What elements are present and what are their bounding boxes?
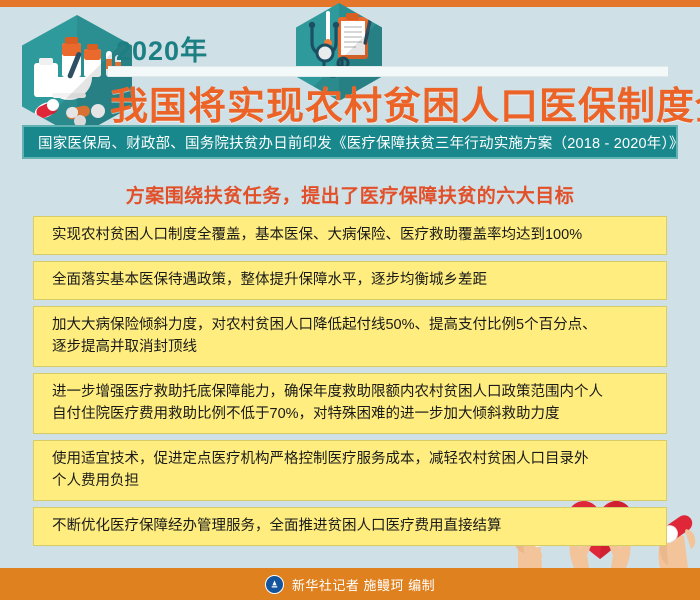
goal-item: 进一步增强医疗救助托底保障能力，确保年度救助限额内农村贫困人口政策范围内个人 自… (33, 373, 667, 434)
goal-line: 实现农村贫困人口制度全覆盖，基本医保、大病保险、医疗救助覆盖率均达到100% (52, 224, 652, 246)
top-accent-rule (0, 0, 700, 7)
goal-item: 实现农村贫困人口制度全覆盖，基本医保、大病保险、医疗救助覆盖率均达到100% (33, 216, 667, 255)
goal-line: 进一步增强医疗救助托底保障能力，确保年度救助限额内农村贫困人口政策范围内个人 (52, 381, 652, 403)
goal-line: 个人费用负担 (52, 470, 652, 492)
footer-bar: 新华社记者 施鳗珂 编制 (0, 568, 700, 600)
goal-item: 加大大病保险倾斜力度，对农村贫困人口降低起付线50%、提高支付比例5个百分点、 … (33, 306, 667, 367)
goal-line: 逐步提高并取消封顶线 (52, 336, 652, 358)
goal-item: 不断优化医疗保障经办管理服务，全面推进贫困人口医疗费用直接结算 (33, 507, 667, 546)
footer-credit: 新华社记者 施鳗珂 编制 (292, 575, 435, 594)
page-title: 我国将实现农村贫困人口医保制度全覆盖 (110, 75, 700, 130)
subtitle-text: 国家医保局、财政部、国务院扶贫办日前印发《医疗保障扶贫三年行动实施方案（2018… (24, 132, 684, 153)
header: 2020年 我国将实现农村贫困人口医保制度全覆盖 (0, 7, 700, 118)
goal-line: 自付住院医疗费用救助比例不低于70%，对特殊困难的进一步加大倾斜救助力度 (52, 403, 652, 425)
goal-item: 全面落实基本医保待遇政策，整体提升保障水平，逐步均衡城乡差距 (33, 261, 667, 300)
goal-line: 全面落实基本医保待遇政策，整体提升保障水平，逐步均衡城乡差距 (52, 269, 652, 291)
section-heading: 方案围绕扶贫任务，提出了医疗保障扶贫的六大目标 (0, 181, 700, 208)
goal-line: 不断优化医疗保障经办管理服务，全面推进贫困人口医疗费用直接结算 (52, 515, 652, 537)
year-label: 2020年 (116, 29, 208, 68)
goal-line: 使用适宜技术，促进定点医疗机构严格控制医疗服务成本，减轻农村贫困人口目录外 (52, 448, 652, 470)
goal-line: 加大大病保险倾斜力度，对农村贫困人口降低起付线50%、提高支付比例5个百分点、 (52, 314, 652, 336)
goal-item: 使用适宜技术，促进定点医疗机构严格控制医疗服务成本，减轻农村贫困人口目录外 个人… (33, 440, 667, 501)
subtitle-banner: 国家医保局、财政部、国务院扶贫办日前印发《医疗保障扶贫三年行动实施方案（2018… (22, 125, 678, 159)
xinhua-logo-icon (265, 575, 284, 594)
